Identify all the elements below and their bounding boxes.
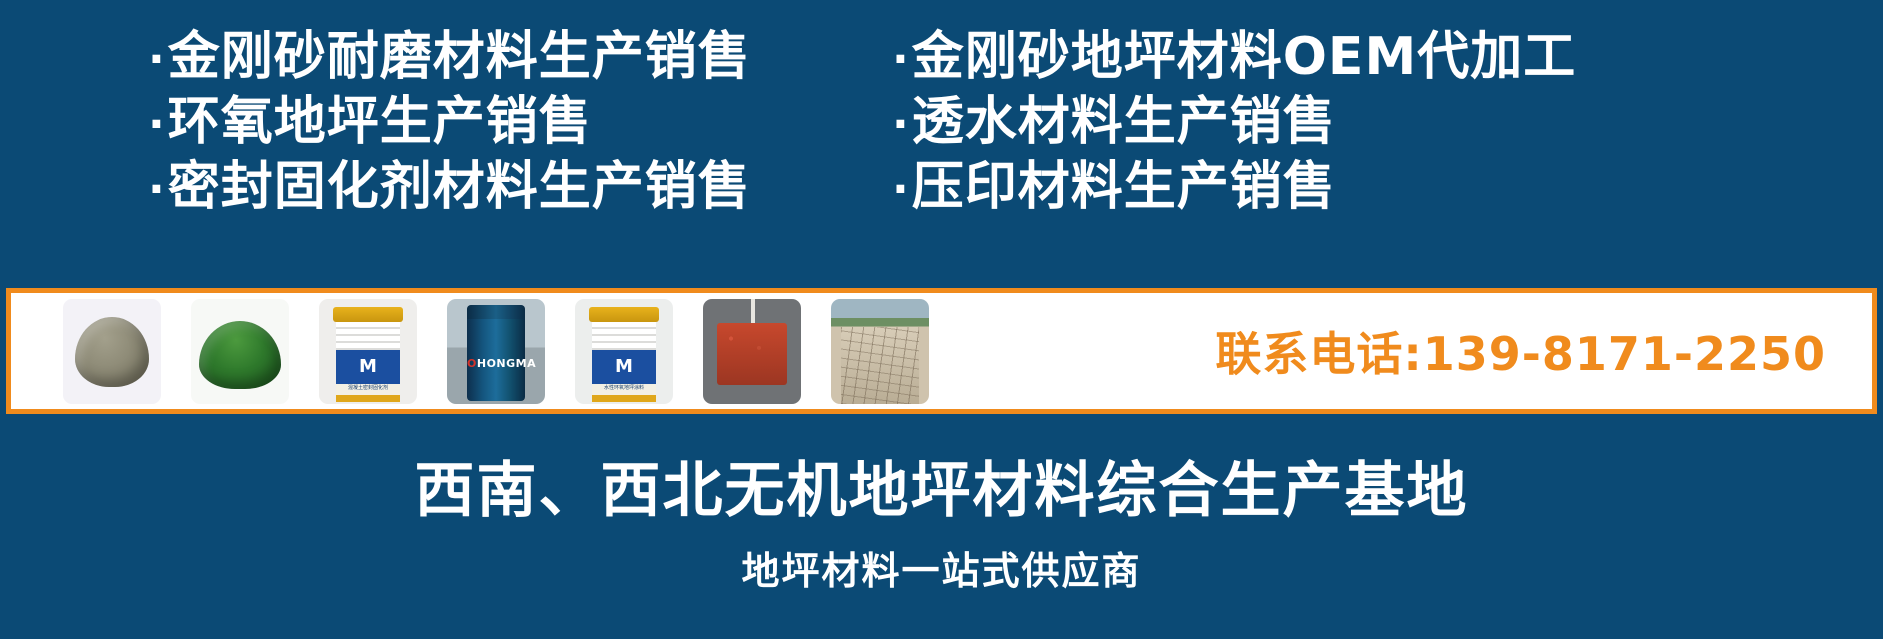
feature-item: · 环氧地坪生产销售 bbox=[148, 91, 880, 156]
pail-lid bbox=[333, 307, 403, 322]
feature-label: 密封固化剂材料生产销售 bbox=[168, 156, 751, 218]
bullet-dot-icon: · bbox=[892, 94, 910, 156]
feature-item: · 压印材料生产销售 bbox=[892, 156, 1883, 221]
bullet-dot-icon: · bbox=[892, 29, 910, 91]
product-thumb-hongma-drum: OHONGMA bbox=[447, 299, 545, 404]
pail-shape: M 混凝土密封固化剂 bbox=[336, 307, 400, 402]
feature-label: 压印材料生产销售 bbox=[912, 156, 1336, 218]
bullet-dot-icon: · bbox=[148, 29, 166, 91]
feature-list: · 金刚砂耐磨材料生产销售 · 环氧地坪生产销售 · 密封固化剂材料生产销售 ·… bbox=[0, 26, 1883, 236]
pail-rings bbox=[592, 322, 656, 350]
pail-shape: M 水性环氧地坪涂料 bbox=[592, 307, 656, 402]
product-thumb-sealer-pail: M 混凝土密封固化剂 bbox=[319, 299, 417, 404]
feature-label: 金刚砂耐磨材料生产销售 bbox=[168, 26, 751, 88]
footer-headline: 西南、西北无机地坪材料综合生产基地 bbox=[0, 455, 1883, 527]
advertisement-banner: · 金刚砂耐磨材料生产销售 · 环氧地坪生产销售 · 密封固化剂材料生产销售 ·… bbox=[0, 0, 1883, 639]
feature-column-right: · 金刚砂地坪材料OEM代加工 · 透水材料生产销售 · 压印材料生产销售 bbox=[880, 26, 1883, 236]
trowel-handle-icon bbox=[751, 299, 755, 333]
contact-phone[interactable]: 联系电话:139-8171-2250 bbox=[1215, 318, 1826, 384]
pail-foot bbox=[592, 395, 656, 402]
feature-label: 金刚砂地坪材料OEM代加工 bbox=[912, 26, 1576, 88]
footer-subheadline: 地坪材料一站式供应商 bbox=[0, 548, 1883, 594]
product-thumb-red-aggregate bbox=[703, 299, 801, 404]
feature-item: · 透水材料生产销售 bbox=[892, 91, 1883, 156]
m-logo-icon: M bbox=[615, 358, 633, 376]
hongma-brand-text: OHONGMA bbox=[467, 357, 525, 370]
feature-column-left: · 金刚砂耐磨材料生产销售 · 环氧地坪生产销售 · 密封固化剂材料生产销售 bbox=[0, 26, 880, 236]
drum-shape: OHONGMA bbox=[467, 305, 525, 401]
hongma-o-mark: O bbox=[467, 357, 477, 370]
pail-brand-band: M bbox=[336, 350, 400, 384]
feature-item: · 密封固化剂材料生产销售 bbox=[148, 156, 880, 221]
feature-item: · 金刚砂耐磨材料生产销售 bbox=[148, 26, 880, 91]
product-thumb-epoxy-pail: M 水性环氧地坪涂料 bbox=[575, 299, 673, 404]
bullet-dot-icon: · bbox=[892, 159, 910, 221]
feature-label: 环氧地坪生产销售 bbox=[168, 91, 592, 153]
pail-lid bbox=[589, 307, 659, 322]
product-thumb-stamped-path bbox=[831, 299, 929, 404]
product-strip: M 混凝土密封固化剂 OHONGMA bbox=[6, 288, 1877, 414]
product-thumbnail-list: M 混凝土密封固化剂 OHONGMA bbox=[63, 299, 959, 404]
hongma-wordmark: HONGMA bbox=[477, 357, 536, 370]
product-thumb-grey-powder bbox=[63, 299, 161, 404]
feature-label: 透水材料生产销售 bbox=[912, 91, 1336, 153]
pail-brand-band: M bbox=[592, 350, 656, 384]
product-thumb-green-powder bbox=[191, 299, 289, 404]
bullet-dot-icon: · bbox=[148, 94, 166, 156]
feature-item: · 金刚砂地坪材料OEM代加工 bbox=[892, 26, 1883, 91]
bullet-dot-icon: · bbox=[148, 159, 166, 221]
pail-foot bbox=[336, 395, 400, 402]
pail-rings bbox=[336, 322, 400, 350]
drum-lid bbox=[467, 305, 525, 319]
m-logo-icon: M bbox=[359, 358, 377, 376]
